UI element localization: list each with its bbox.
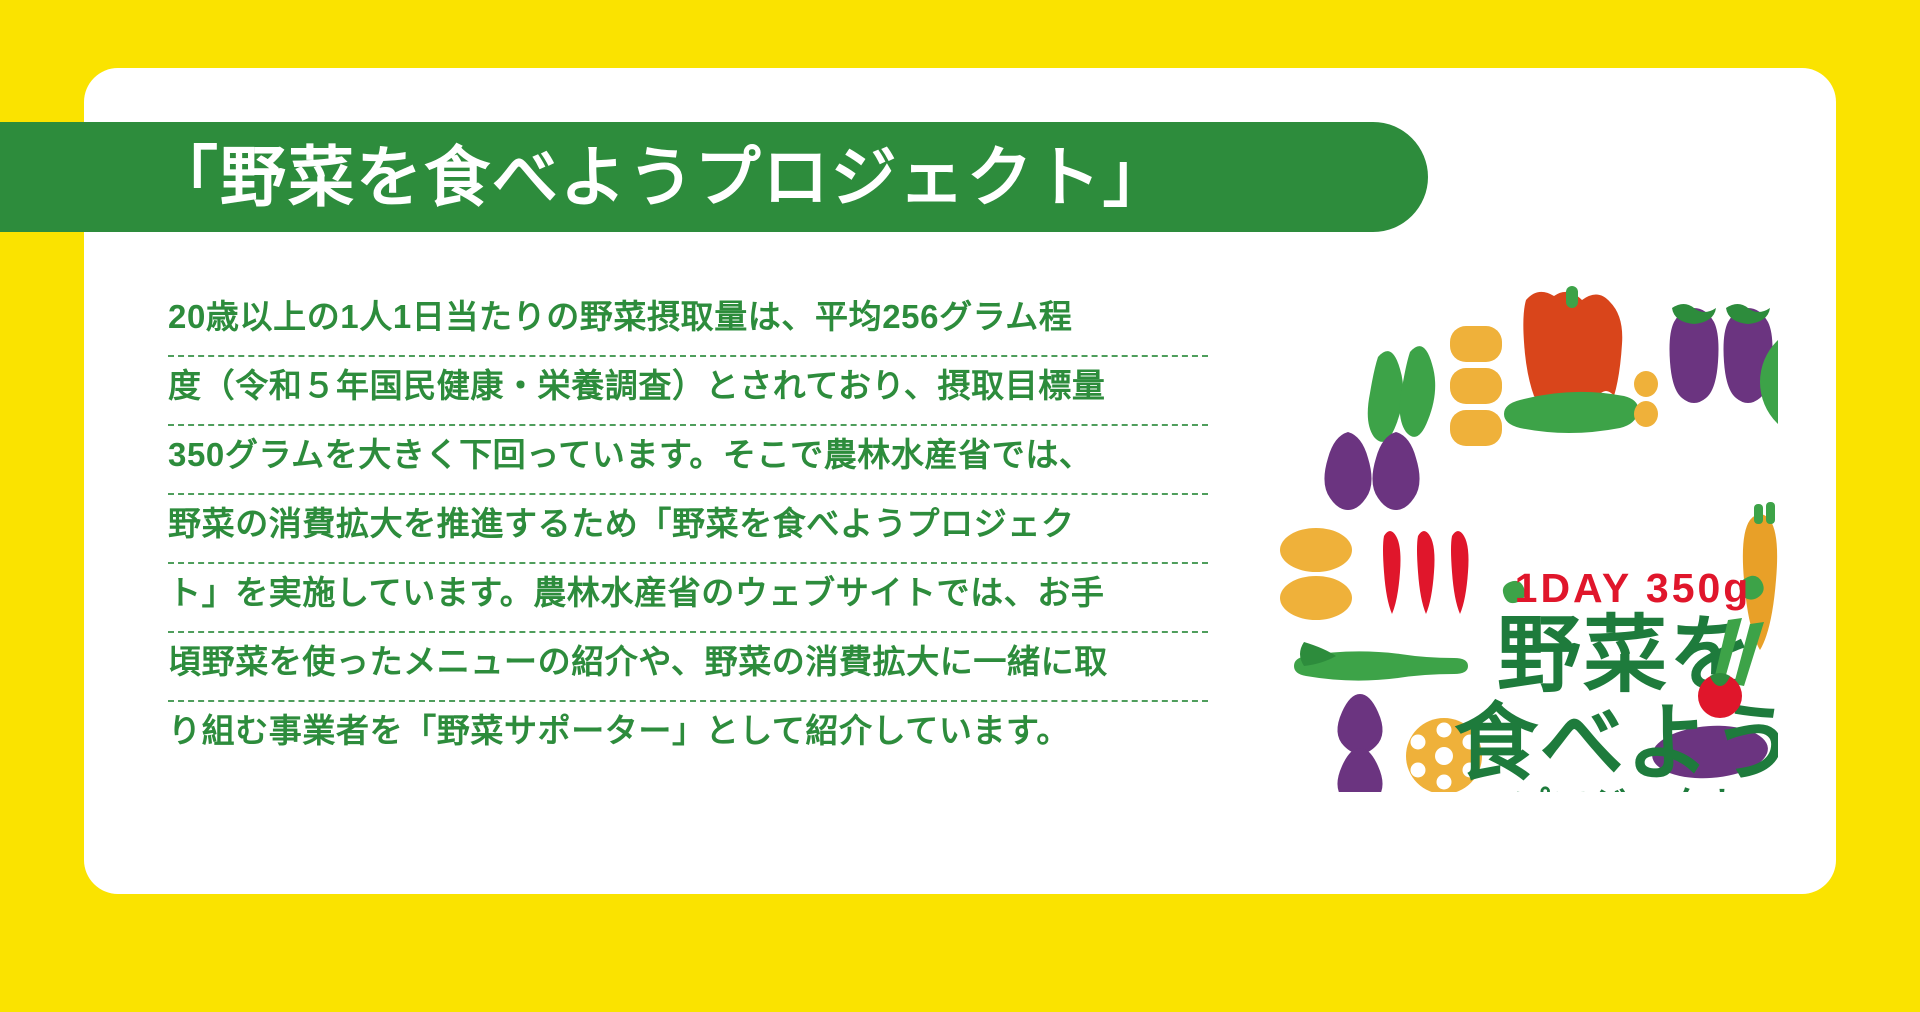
- body-text-line: 頃野菜を使ったメニューの紹介や、野菜の消費拡大に一緒に取: [168, 633, 1208, 702]
- body-text-line: 度（令和５年国民健康・栄養調査）とされており、摂取目標量: [168, 357, 1208, 426]
- cucumber-icon: [1504, 392, 1638, 433]
- bell-pepper-icon: [1523, 286, 1622, 401]
- title-banner: 「野菜を食べようプロジェクト」: [0, 122, 1428, 232]
- body-text-line: 野菜の消費拡大を推進するため「野菜を食べようプロジェク: [168, 495, 1208, 564]
- bean-icon: [1634, 371, 1658, 427]
- yasai-tabeyou-project-logo: 1DAY 350g 野菜を 食べよう プロジェクト: [1258, 272, 1778, 792]
- eggplant-icon: [1670, 304, 1773, 403]
- logo-tagline: 1DAY 350g: [1515, 565, 1752, 611]
- body-text-block: 20歳以上の1人1日当たりの野菜摂取量は、平均256グラム程 度（令和５年国民健…: [168, 288, 1208, 771]
- logo-subtitle: プロジェクト: [1513, 785, 1747, 792]
- leek-icon: [1294, 642, 1468, 681]
- body-text-line: 350グラムを大きく下回っています。そこで農林水産省では、: [168, 426, 1208, 495]
- chili-pepper-icon: [1383, 531, 1469, 614]
- shiso-leaf-icon: [1324, 432, 1419, 510]
- page-title: 「野菜を食べようプロジェクト」: [152, 144, 1171, 210]
- potato-icon: [1450, 326, 1502, 446]
- body-text-line: ト」を実施しています。農林水産省のウェブサイトでは、お手: [168, 564, 1208, 633]
- small-eggplant-icon: [1337, 694, 1382, 792]
- body-text-line: り組む事業者を「野菜サポーター」として紹介しています。: [168, 702, 1208, 771]
- sweet-potato-slice-icon: [1280, 528, 1352, 620]
- pea-pod-icon: [1368, 346, 1435, 442]
- body-text-line: 20歳以上の1人1日当たりの野菜摂取量は、平均256グラム程: [168, 288, 1208, 357]
